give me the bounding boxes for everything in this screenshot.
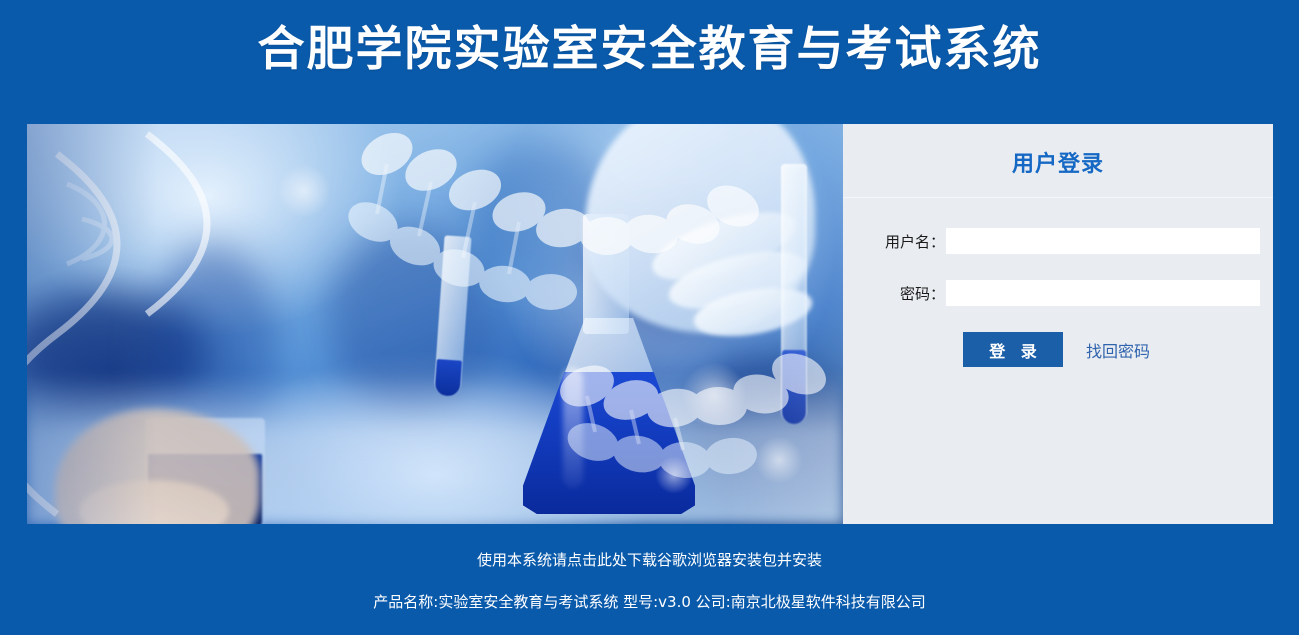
login-form: 用户名： 密码： 登 录 找回密码	[843, 198, 1273, 367]
username-label: 用户名：	[843, 231, 946, 252]
password-input[interactable]	[946, 280, 1260, 306]
password-label: 密码：	[843, 283, 946, 304]
page-title: 合肥学院实验室安全教育与考试系统	[0, 0, 1299, 73]
login-actions: 登 录 找回密码	[843, 332, 1273, 367]
password-row: 密码：	[843, 280, 1273, 306]
login-card: 用户登录 用户名： 密码： 登 录 找回密码	[27, 124, 1273, 524]
login-panel-title: 用户登录	[843, 150, 1273, 180]
hero-vignette	[27, 124, 843, 524]
forgot-password-link[interactable]: 找回密码	[1086, 338, 1150, 362]
login-panel: 用户登录 用户名： 密码： 登 录 找回密码	[843, 124, 1273, 524]
login-button[interactable]: 登 录	[963, 332, 1063, 367]
username-input[interactable]	[946, 228, 1260, 254]
username-row: 用户名：	[843, 228, 1273, 254]
product-info-text: 产品名称:实验室安全教育与考试系统 型号:v3.0 公司:南京北极星软件科技有限…	[0, 590, 1299, 614]
laboratory-hero-image	[27, 124, 843, 524]
download-chrome-link[interactable]: 使用本系统请点击此处下载谷歌浏览器安装包并安装	[0, 548, 1299, 572]
footer: 使用本系统请点击此处下载谷歌浏览器安装包并安装 产品名称:实验室安全教育与考试系…	[0, 548, 1299, 614]
